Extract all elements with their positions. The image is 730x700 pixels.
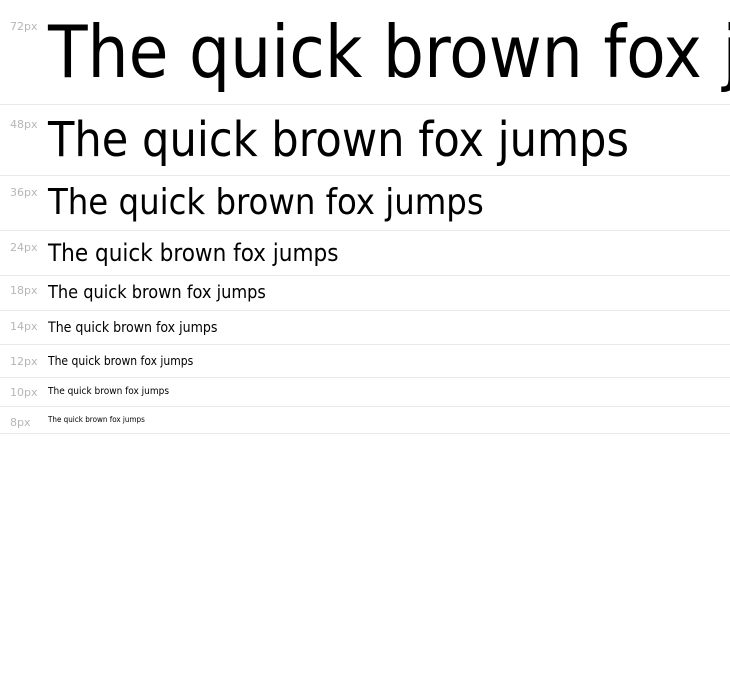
- size-label-8px: 8px: [10, 417, 48, 428]
- specimen-row-36px: 36px The quick brown fox jumps: [0, 176, 730, 231]
- size-label-10px: 10px: [10, 387, 48, 398]
- size-label-18px: 18px: [10, 285, 48, 296]
- specimen-row-8px: 8px The quick brown fox jumps: [0, 407, 730, 434]
- sample-text-8px: The quick brown fox jumps: [48, 416, 145, 424]
- sample-text-10px: The quick brown fox jumps: [48, 387, 169, 397]
- sample-text-24px: The quick brown fox jumps: [48, 241, 338, 265]
- specimen-row-72px: 72px The quick brown fox jumps: [0, 0, 730, 105]
- blank-canvas-area: [0, 434, 730, 700]
- font-size-specimen-sheet: 72px The quick brown fox jumps 48px The …: [0, 0, 730, 434]
- specimen-row-18px: 18px The quick brown fox jumps: [0, 276, 730, 311]
- specimen-row-12px: 12px The quick brown fox jumps: [0, 345, 730, 378]
- sample-text-18px: The quick brown fox jumps: [48, 284, 266, 302]
- specimen-row-10px: 10px The quick brown fox jumps: [0, 378, 730, 407]
- sample-text-36px: The quick brown fox jumps: [48, 185, 484, 221]
- sample-text-48px: The quick brown fox jumps: [48, 116, 629, 164]
- size-label-12px: 12px: [10, 356, 48, 367]
- sample-text-72px: The quick brown fox jumps: [48, 16, 730, 88]
- sample-text-14px: The quick brown fox jumps: [48, 321, 217, 335]
- size-label-24px: 24px: [10, 242, 48, 253]
- size-label-14px: 14px: [10, 321, 48, 332]
- specimen-row-24px: 24px The quick brown fox jumps: [0, 231, 730, 276]
- size-label-72px: 72px: [10, 21, 48, 32]
- specimen-row-48px: 48px The quick brown fox jumps: [0, 105, 730, 176]
- size-label-36px: 36px: [10, 187, 48, 198]
- specimen-row-14px: 14px The quick brown fox jumps: [0, 311, 730, 345]
- size-label-48px: 48px: [10, 119, 48, 130]
- sample-text-12px: The quick brown fox jumps: [48, 355, 193, 367]
